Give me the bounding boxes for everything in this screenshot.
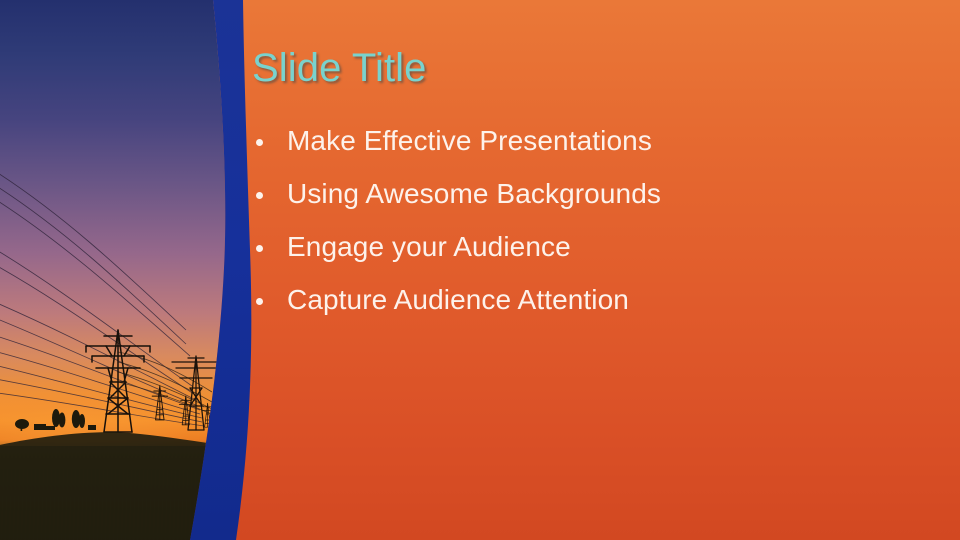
horizon-treeline xyxy=(15,409,96,431)
list-item[interactable]: Make Effective Presentations xyxy=(250,115,910,168)
list-item-label: Using Awesome Backgrounds xyxy=(287,178,661,210)
list-item[interactable]: Capture Audience Attention xyxy=(250,274,910,327)
list-item-label: Capture Audience Attention xyxy=(287,284,629,316)
round-bullet-icon xyxy=(256,139,263,146)
list-item[interactable]: Engage your Audience xyxy=(250,221,910,274)
bullet-list: Make Effective Presentations Using Aweso… xyxy=(250,115,910,327)
presentation-slide: Slide Title Make Effective Presentations… xyxy=(0,0,960,540)
slide-content: Slide Title Make Effective Presentations… xyxy=(250,0,950,540)
round-bullet-icon xyxy=(256,245,263,252)
photo-pylons-overlay xyxy=(0,0,236,540)
list-item-label: Engage your Audience xyxy=(287,231,571,263)
list-item-label: Make Effective Presentations xyxy=(287,125,652,157)
round-bullet-icon xyxy=(256,298,263,305)
list-item[interactable]: Using Awesome Backgrounds xyxy=(250,168,910,221)
page-title: Slide Title xyxy=(252,46,427,90)
round-bullet-icon xyxy=(256,192,263,199)
sunset-power-lines-photo xyxy=(0,0,236,540)
